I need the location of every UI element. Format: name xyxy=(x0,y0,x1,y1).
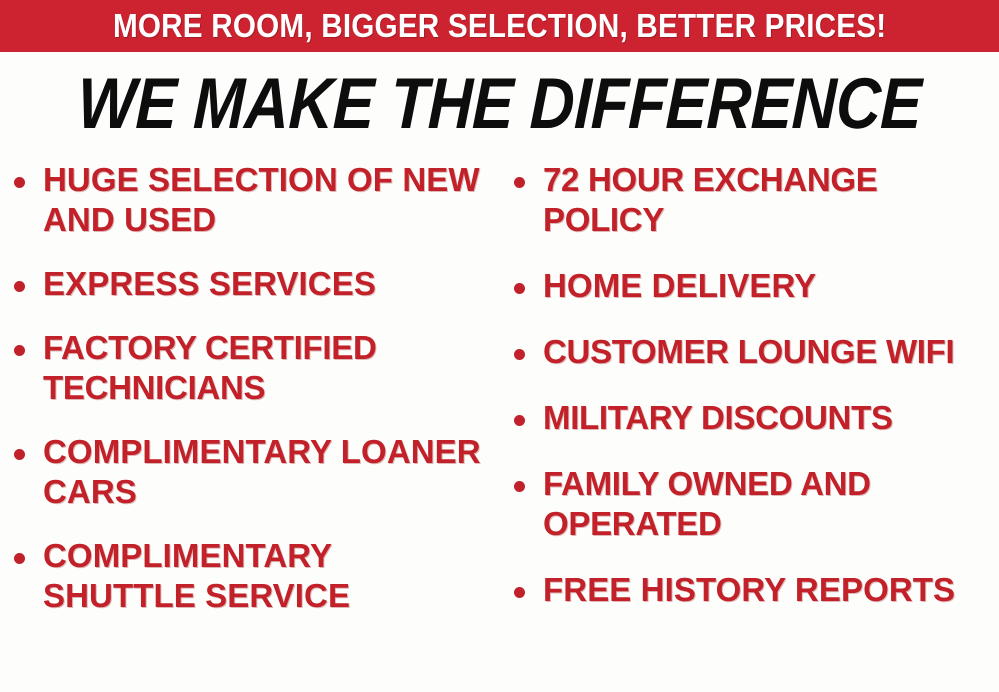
list-item-label: HUGE SELECTION OF NEW AND USED xyxy=(43,160,483,240)
list-item-label: COMPLIMENTARY LOANER CARS xyxy=(43,432,483,512)
features-column-left: HUGE SELECTION OF NEW AND USED EXPRESS S… xyxy=(14,160,494,640)
list-item-label: 72 HOUR EXCHANGE POLICY xyxy=(543,160,993,240)
list-item: FACTORY CERTIFIED TECHNICIANS xyxy=(14,328,494,408)
list-item-label: COMPLIMENTARY SHUTTLE SERVICE xyxy=(43,536,483,616)
headline-container: WE MAKE THE DIFFERENCE xyxy=(0,63,999,145)
bullet-dot-icon xyxy=(514,587,525,598)
bullet-dot-icon xyxy=(514,415,525,426)
bullet-dot-icon xyxy=(514,177,525,188)
list-item: FAMILY OWNED AND OPERATED xyxy=(514,464,999,544)
list-item-label: CUSTOMER LOUNGE WIFI xyxy=(543,332,993,372)
list-item: CUSTOMER LOUNGE WIFI xyxy=(514,332,999,372)
features-column-right: 72 HOUR EXCHANGE POLICY HOME DELIVERY CU… xyxy=(514,160,999,636)
list-item-label: FREE HISTORY REPORTS xyxy=(543,570,993,610)
list-item: COMPLIMENTARY LOANER CARS xyxy=(14,432,494,512)
bullet-dot-icon xyxy=(14,345,25,356)
list-item: FREE HISTORY REPORTS xyxy=(514,570,999,610)
list-item-label: EXPRESS SERVICES xyxy=(43,264,483,304)
list-item: COMPLIMENTARY SHUTTLE SERVICE xyxy=(14,536,494,616)
list-item-label: FAMILY OWNED AND OPERATED xyxy=(543,464,993,544)
list-item: HUGE SELECTION OF NEW AND USED xyxy=(14,160,494,240)
bullet-dot-icon xyxy=(14,449,25,460)
list-item-label: HOME DELIVERY xyxy=(543,266,993,306)
list-item: HOME DELIVERY xyxy=(514,266,999,306)
page-title: WE MAKE THE DIFFERENCE xyxy=(77,67,923,141)
list-item: 72 HOUR EXCHANGE POLICY xyxy=(514,160,999,240)
list-item: MILITARY DISCOUNTS xyxy=(514,398,999,438)
bullet-dot-icon xyxy=(514,481,525,492)
promotional-poster: MORE ROOM, BIGGER SELECTION, BETTER PRIC… xyxy=(0,0,999,692)
list-item-label: MILITARY DISCOUNTS xyxy=(543,398,993,438)
top-banner: MORE ROOM, BIGGER SELECTION, BETTER PRIC… xyxy=(0,0,999,52)
features-columns: HUGE SELECTION OF NEW AND USED EXPRESS S… xyxy=(0,160,999,692)
bullet-dot-icon xyxy=(514,349,525,360)
bullet-dot-icon xyxy=(14,177,25,188)
bullet-dot-icon xyxy=(514,283,525,294)
top-banner-text: MORE ROOM, BIGGER SELECTION, BETTER PRIC… xyxy=(113,9,886,43)
bullet-dot-icon xyxy=(14,281,25,292)
list-item: EXPRESS SERVICES xyxy=(14,264,494,304)
bullet-dot-icon xyxy=(14,553,25,564)
list-item-label: FACTORY CERTIFIED TECHNICIANS xyxy=(43,328,483,408)
